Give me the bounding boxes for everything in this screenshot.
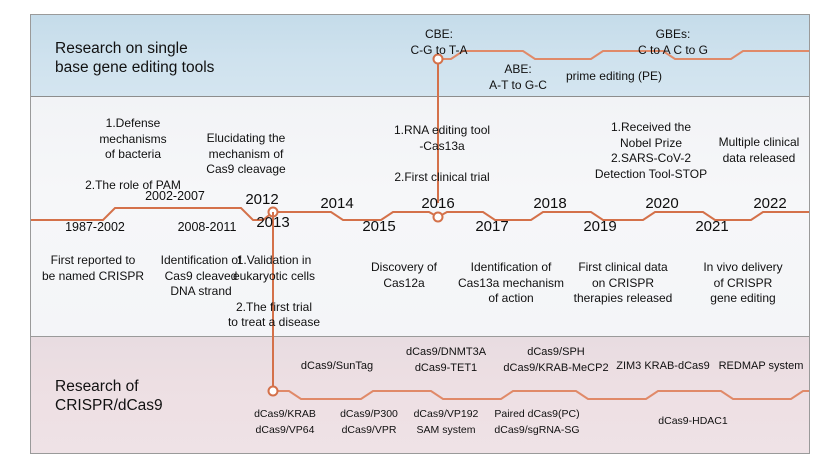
- year-2013: 2013: [247, 214, 299, 231]
- year-2014: 2014: [311, 195, 363, 212]
- diagram-frame: Research on single base gene editing too…: [30, 14, 810, 454]
- event-above-2016: 1.RNA editing tool -Cas13a 2.First clini…: [369, 123, 515, 185]
- year-2018: 2018: [524, 195, 576, 212]
- year-2016: 2016: [412, 195, 464, 212]
- year-2002-2007: 2002-2007: [129, 189, 221, 203]
- event-above-2002-2007: 1.Defense mechanisms of bacteria 2.The r…: [69, 116, 197, 194]
- year-2020: 2020: [636, 195, 688, 212]
- dcas9-label-suntag: dCas9/SunTag: [281, 359, 393, 375]
- dcas9-label-redmap: REDMAP system: [703, 359, 810, 375]
- event-above-2022: Multiple clinical data released: [703, 135, 810, 166]
- dcas9-label-paired: Paired dCas9(PC) dCas9/sgRNA-SG: [471, 407, 603, 438]
- year-2008-2011: 2008-2011: [161, 220, 253, 234]
- node-timeline-2016[interactable]: [434, 213, 443, 222]
- dcas9-label-hdac1: dCas9-HDAC1: [623, 414, 763, 430]
- year-2012: 2012: [236, 191, 288, 208]
- node-dcas9-2013[interactable]: [269, 387, 278, 396]
- figure-root: Research on single base gene editing too…: [0, 0, 820, 468]
- year-2021: 2021: [686, 218, 738, 235]
- year-2015: 2015: [353, 218, 405, 235]
- year-2017: 2017: [466, 218, 518, 235]
- year-1987-2002: 1987-2002: [49, 220, 141, 234]
- event-below-2013: 1.Validation in eukaryotic cells 2.The f…: [207, 253, 341, 331]
- top-label-pe: prime editing (PE): [529, 69, 699, 85]
- event-above-2012: Elucidating the mechanism of Cas9 cleava…: [179, 131, 313, 178]
- dcas9-track-zigzag: [273, 391, 810, 399]
- top-label-cbe: CBE: C-G to T-A: [383, 27, 495, 58]
- event-below-2019: First clinical data on CRISPR therapies …: [555, 260, 691, 307]
- year-2022: 2022: [744, 195, 796, 212]
- top-label-gbes: GBEs: C to A C to G: [599, 27, 747, 58]
- event-below-2021: In vivo delivery of CRISPR gene editing: [681, 260, 805, 307]
- year-2019: 2019: [574, 218, 626, 235]
